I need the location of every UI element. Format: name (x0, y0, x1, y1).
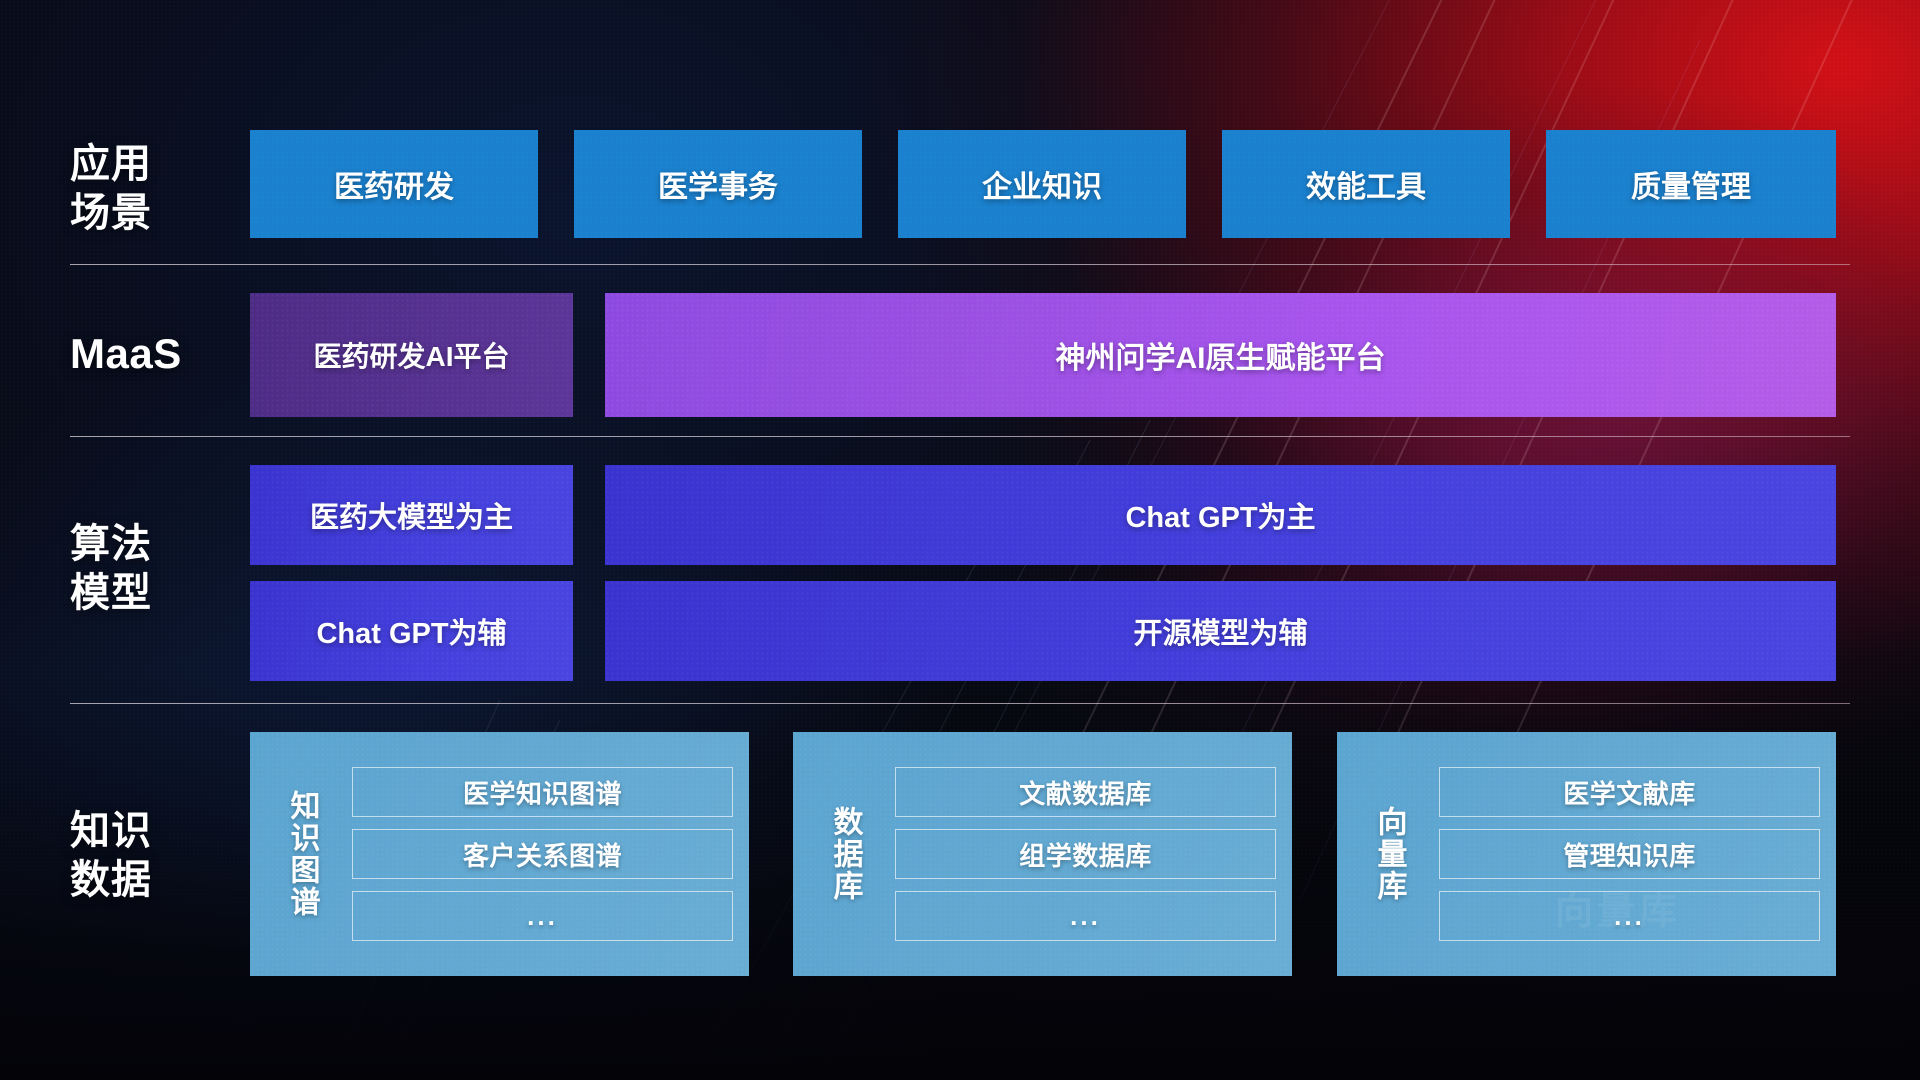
algo-box-label: 开源模型为辅 (1133, 610, 1307, 652)
knowledge-item[interactable]: 文献数据库 (895, 767, 1276, 817)
algo-box-label: Chat GPT为主 (1125, 494, 1315, 536)
divider-after-algorithm-models (70, 703, 1850, 704)
app-box-label: 质量管理 (1631, 162, 1751, 206)
knowledge-item[interactable]: 客户关系图谱 (352, 829, 733, 879)
app-box-label: 效能工具 (1306, 162, 1426, 206)
knowledge-panel-knowledge-graph[interactable]: 知识图谱 医学知识图谱 客户关系图谱 ... (250, 732, 749, 976)
app-box-label: 医药研发 (334, 162, 454, 206)
knowledge-panel-database[interactable]: 数据库 文献数据库 组学数据库 ... (793, 732, 1292, 976)
app-box-medicine-rd[interactable]: 医药研发 (250, 130, 538, 238)
app-box-quality-management[interactable]: 质量管理 (1546, 130, 1836, 238)
row-label-algorithm-models: 算法 模型 (70, 520, 235, 618)
knowledge-item[interactable]: 组学数据库 (895, 829, 1276, 879)
knowledge-item[interactable]: 管理知识库 (1439, 829, 1820, 879)
architecture-diagram: 应用 场景 医药研发 医学事务 企业知识 效能工具 质量管理 MaaS 医药研发… (0, 0, 1920, 1080)
knowledge-item-more[interactable]: ... (352, 891, 733, 941)
row-label-knowledge-data: 知识 数据 (70, 807, 235, 905)
maas-box-label: 神州问学AI原生赋能平台 (1056, 333, 1386, 377)
algo-box-open-source-secondary[interactable]: 开源模型为辅 (605, 581, 1836, 681)
maas-box-medicine-rd-ai-platform[interactable]: 医药研发AI平台 (250, 293, 573, 417)
knowledge-panel-items: 文献数据库 组学数据库 ... (883, 767, 1276, 941)
app-box-efficiency-tools[interactable]: 效能工具 (1222, 130, 1510, 238)
divider-after-application-scenarios (70, 264, 1850, 265)
app-box-enterprise-knowledge[interactable]: 企业知识 (898, 130, 1186, 238)
knowledge-panel-vertical-label: 向量库 (1351, 806, 1427, 902)
knowledge-panel-vertical-label: 数据库 (807, 806, 883, 902)
algo-box-chatgpt-primary[interactable]: Chat GPT为主 (605, 465, 1836, 565)
knowledge-item[interactable]: 医学文献库 (1439, 767, 1820, 817)
algo-box-label: 医药大模型为主 (310, 494, 513, 536)
algo-box-chatgpt-secondary[interactable]: Chat GPT为辅 (250, 581, 573, 681)
knowledge-panel-items: 医学文献库 管理知识库 ... (1427, 767, 1820, 941)
knowledge-item-more[interactable]: ... (1439, 891, 1820, 941)
knowledge-panel-vector-store[interactable]: 向量库 医学文献库 管理知识库 ... (1337, 732, 1836, 976)
divider-after-maas (70, 436, 1850, 437)
algo-box-label: Chat GPT为辅 (316, 610, 506, 652)
knowledge-panel-vertical-label: 知识图谱 (264, 790, 340, 918)
knowledge-item-more[interactable]: ... (895, 891, 1276, 941)
row-label-maas: MaaS (70, 329, 235, 378)
maas-box-label: 医药研发AI平台 (313, 335, 509, 375)
app-box-medical-affairs[interactable]: 医学事务 (574, 130, 862, 238)
knowledge-item[interactable]: 医学知识图谱 (352, 767, 733, 817)
algo-box-medicine-large-model-primary[interactable]: 医药大模型为主 (250, 465, 573, 565)
row-label-application-scenarios: 应用 场景 (70, 140, 235, 238)
app-box-label: 医学事务 (658, 162, 778, 206)
knowledge-panel-items: 医学知识图谱 客户关系图谱 ... (340, 767, 733, 941)
maas-box-shenzhou-wenxue-platform[interactable]: 神州问学AI原生赋能平台 (605, 293, 1836, 417)
app-box-label: 企业知识 (982, 162, 1102, 206)
